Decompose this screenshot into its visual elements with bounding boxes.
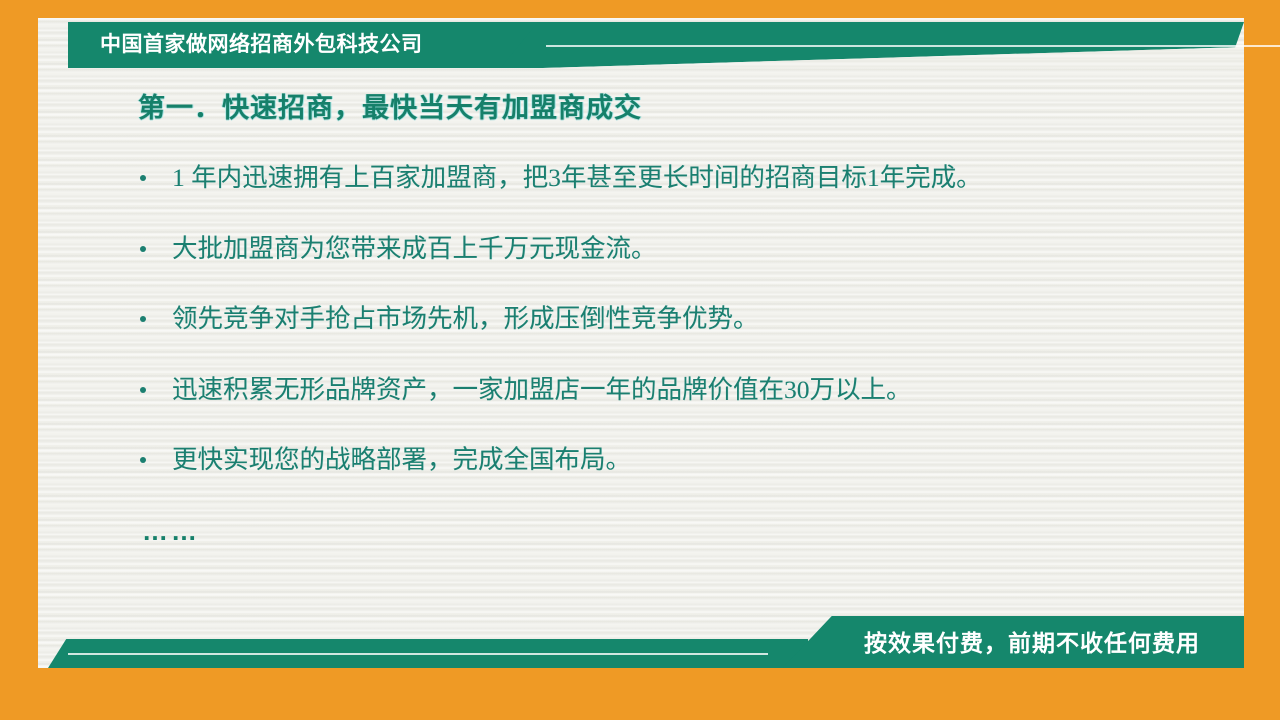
bullet-dot-icon — [140, 175, 146, 181]
list-item-text: 1 年内迅速拥有上百家加盟商，把3年甚至更长时间的招商目标1年完成。 — [172, 163, 982, 192]
bullet-dot-icon — [140, 316, 146, 322]
company-title: 中国首家做网络招商外包科技公司 — [100, 22, 423, 68]
bullet-dot-icon — [140, 387, 146, 393]
footer-tagline: 按效果付费，前期不收任何费用 — [864, 616, 1200, 668]
header-band: 中国首家做网络招商外包科技公司 — [68, 22, 1244, 68]
list-item: 领先竞争对手抢占市场先机，形成压倒性竞争优势。 — [134, 306, 1244, 332]
list-item-text: 迅速积累无形品牌资产，一家加盟店一年的品牌价值在30万以上。 — [172, 375, 912, 404]
list-item: 迅速积累无形品牌资产，一家加盟店一年的品牌价值在30万以上。 — [134, 377, 1244, 403]
list-item-text: 领先竞争对手抢占市场先机，形成压倒性竞争优势。 — [172, 304, 759, 333]
slide-root: 中国首家做网络招商外包科技公司 第一．快速招商，最快当天有加盟商成交 1 年内迅… — [0, 0, 1280, 720]
list-item: 大批加盟商为您带来成百上千万元现金流。 — [134, 236, 1244, 262]
bullet-dot-icon — [140, 457, 146, 463]
bullet-dot-icon — [140, 246, 146, 252]
main-content: 第一．快速招商，最快当天有加盟商成交 1 年内迅速拥有上百家加盟商，把3年甚至更… — [38, 86, 1244, 544]
list-item-text: 大批加盟商为您带来成百上千万元现金流。 — [172, 234, 657, 263]
continuation-ellipsis: …… — [142, 518, 1244, 544]
header-hairline-rule — [546, 45, 1280, 47]
footer-band: 按效果付费，前期不收任何费用 — [38, 616, 1244, 668]
footer-hairline-rule — [68, 653, 768, 655]
benefit-list: 1 年内迅速拥有上百家加盟商，把3年甚至更长时间的招商目标1年完成。 大批加盟商… — [134, 165, 1244, 473]
list-item: 1 年内迅速拥有上百家加盟商，把3年甚至更长时间的招商目标1年完成。 — [134, 165, 1244, 191]
section-heading: 第一．快速招商，最快当天有加盟商成交 — [138, 86, 1244, 125]
list-item-text: 更快实现您的战略部署，完成全国布局。 — [172, 445, 631, 474]
list-item: 更快实现您的战略部署，完成全国布局。 — [134, 447, 1244, 473]
